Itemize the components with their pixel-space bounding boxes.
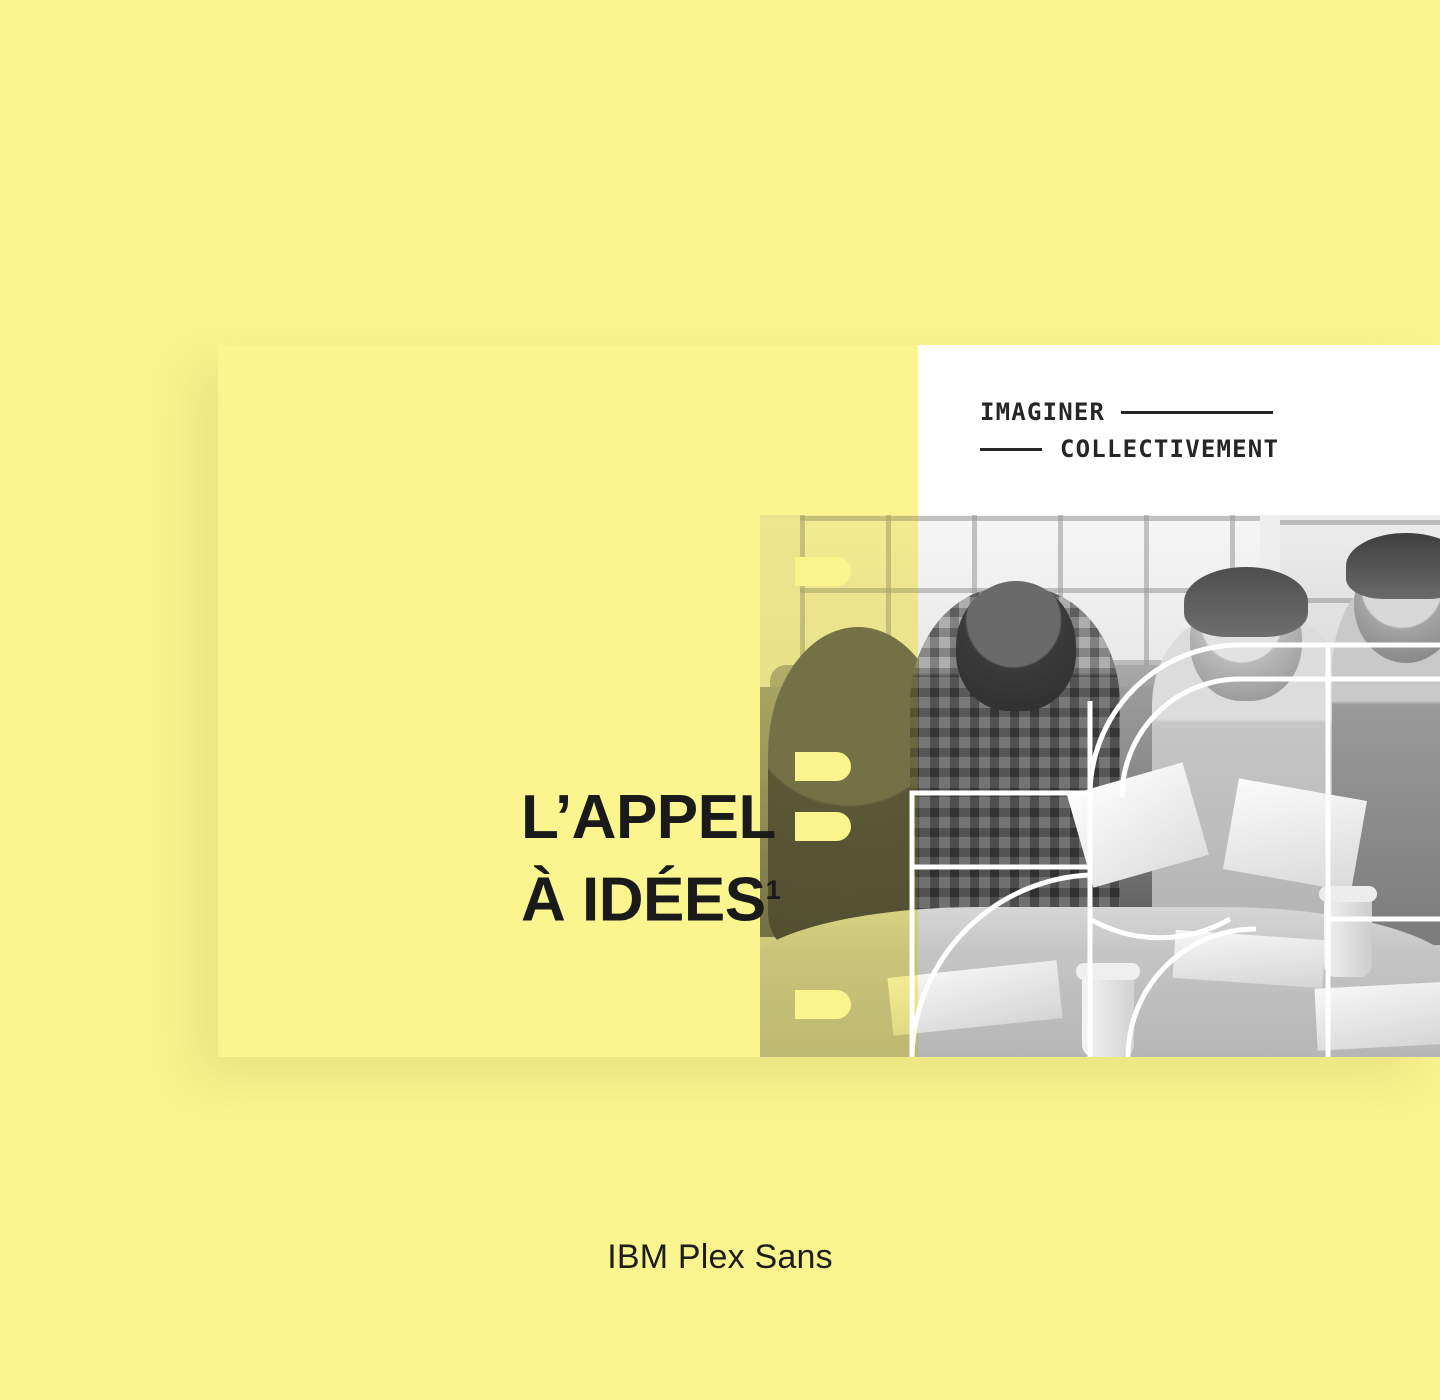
b-bar-1 <box>795 557 851 586</box>
headline-footnote-marker: 1 <box>766 874 781 905</box>
lockup-row-1: IMAGINER <box>980 397 1360 427</box>
meeting-photo <box>760 515 1440 1057</box>
b-bar-4 <box>795 990 851 1019</box>
lockup-rule-short <box>980 448 1042 451</box>
font-caption: IBM Plex Sans <box>0 1238 1440 1277</box>
headline-line-1: L’APPEL <box>521 783 776 852</box>
showcase-card: L’APPEL À IDÉES1 IMAGINER COLLECTIVEMENT <box>218 345 1440 1057</box>
photo-yellow-tint-boost <box>760 515 918 1057</box>
lockup: IMAGINER COLLECTIVEMENT <box>980 397 1360 464</box>
b-bar-3 <box>795 812 851 841</box>
lockup-word-imaginer: IMAGINER <box>980 400 1105 424</box>
headline-line-2: À IDÉES <box>521 866 766 935</box>
page-title: L’APPEL À IDÉES1 <box>521 782 781 937</box>
b-bar-2 <box>795 752 851 781</box>
lockup-word-collectivement: COLLECTIVEMENT <box>1060 437 1279 461</box>
lockup-rule-long <box>1121 411 1273 414</box>
lockup-row-2: COLLECTIVEMENT <box>980 434 1360 464</box>
